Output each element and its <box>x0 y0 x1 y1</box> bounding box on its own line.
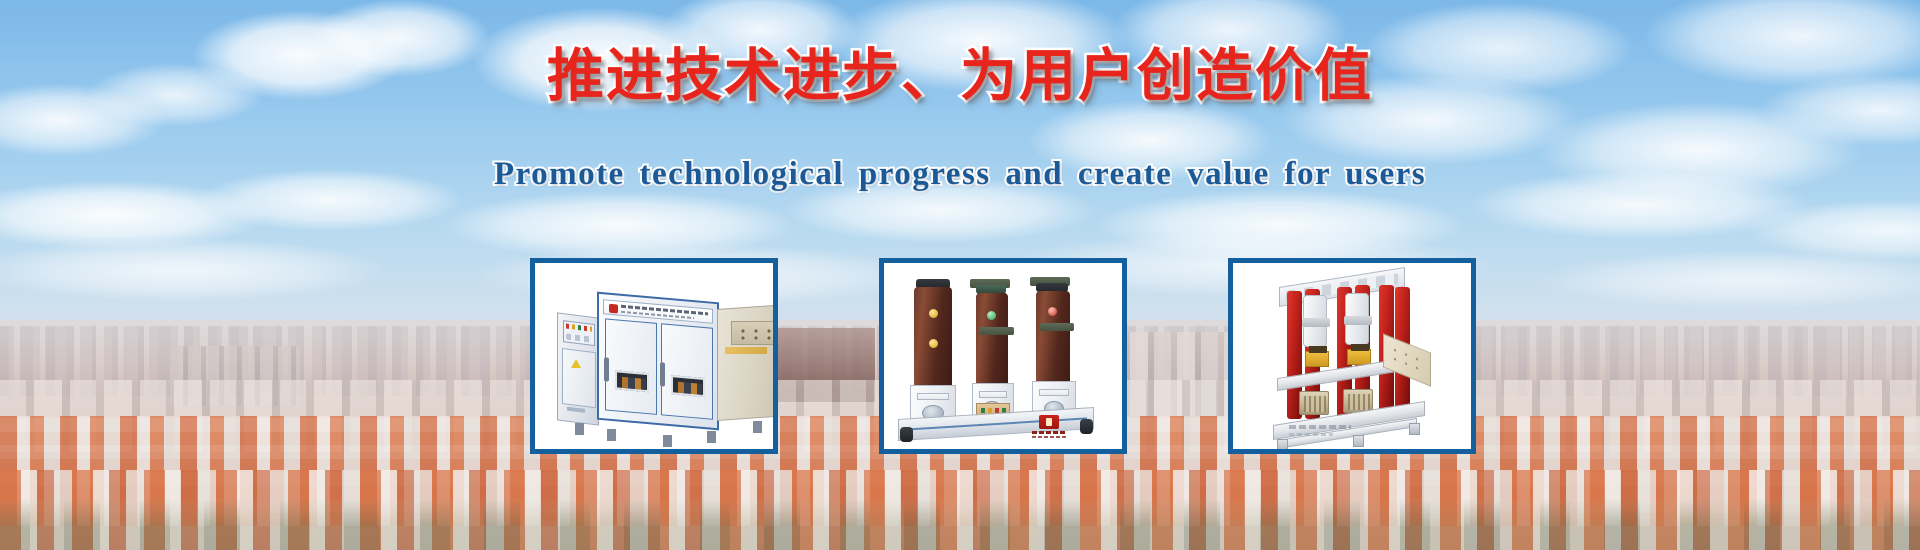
cubicle-door <box>562 348 596 408</box>
warning-triangle-label <box>571 359 581 368</box>
banner-subheadline-english: Promote technological progress and creat… <box>0 158 1920 191</box>
contactor-caption-line-1 <box>1289 425 1351 429</box>
contact-terminal-clamp <box>1347 349 1371 365</box>
manufacturer-logo-mark <box>609 304 618 314</box>
door-viewing-window-left <box>615 370 649 392</box>
door-hinge <box>660 362 665 386</box>
pole-status-indicator-green <box>987 311 996 320</box>
promo-banner: 推进技术进步、为用户创造价值 Promote technological pro… <box>0 0 1920 550</box>
copper-busbar-strip <box>725 347 767 354</box>
cabinet-door-right <box>661 323 713 420</box>
banner-headline-chinese: 推进技术进步、为用户创造价值 <box>0 48 1920 105</box>
pole-insulator-body <box>1036 291 1070 385</box>
vacuum-interrupter-bottle <box>1345 293 1369 345</box>
cabinet-door-left <box>605 318 657 415</box>
control-cubicle <box>557 312 599 425</box>
cubicle-nameplate <box>567 407 585 413</box>
busbar-duct <box>731 321 778 345</box>
mechanism-nameplate <box>1039 389 1069 396</box>
cabinet-foot <box>707 431 716 443</box>
manufacturer-logo <box>1032 415 1066 437</box>
cabinet-foot <box>753 421 762 433</box>
switchgear-cabinet-photo <box>535 263 773 449</box>
pole-status-indicator-yellow <box>929 309 938 318</box>
vacuum-contactor-photo <box>1233 263 1471 449</box>
vacuum-interrupter-bottle <box>1303 295 1327 347</box>
logo-mark <box>1039 415 1059 429</box>
main-cabinet-body <box>597 292 719 431</box>
mounting-foot <box>1409 423 1420 435</box>
door-viewing-window-right <box>671 375 705 397</box>
vacuum-circuit-breaker-photo <box>884 263 1122 449</box>
pole-mid-bracket <box>980 327 1014 335</box>
contact-terminal-clamp <box>1305 351 1329 367</box>
pole-insulator-body <box>914 287 952 387</box>
operating-coil <box>1299 391 1329 415</box>
contactor-caption-line-2 <box>1289 433 1333 436</box>
logo-brand-text <box>1032 431 1066 434</box>
cabinet-foot <box>575 423 584 435</box>
product-image-row <box>530 258 1476 454</box>
logo-tagline-text <box>1032 436 1066 438</box>
mounting-foot <box>1277 439 1288 451</box>
truck-wheel-right <box>1080 419 1093 434</box>
mechanism-nameplate <box>917 393 949 400</box>
truck-wheel-left <box>900 427 913 442</box>
cabinet-foot <box>663 435 672 447</box>
product-panel-vacuum-circuit-breaker[interactable] <box>879 258 1127 454</box>
cabinet-foot <box>607 429 616 441</box>
pole-insulator-body <box>976 293 1008 385</box>
product-panel-switchgear-cabinet[interactable] <box>530 258 778 454</box>
product-panel-vacuum-contactor[interactable] <box>1228 258 1476 454</box>
pole-mid-bracket <box>1040 323 1074 331</box>
pole-status-indicator-yellow-lower <box>929 339 938 348</box>
door-hinge <box>604 357 609 381</box>
mounting-foot <box>1353 435 1364 447</box>
pole-status-indicator-red <box>1048 307 1057 316</box>
mechanism-nameplate <box>979 391 1007 398</box>
